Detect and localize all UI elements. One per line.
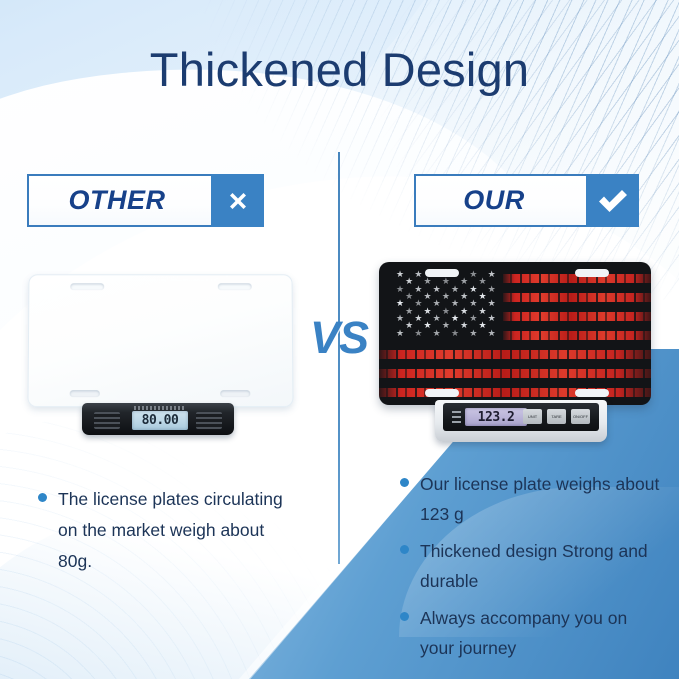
star-icon: ★ bbox=[396, 270, 404, 278]
plate-mounting-slot bbox=[425, 269, 459, 277]
bullet-dot-icon bbox=[38, 493, 47, 502]
star-icon: ★ bbox=[488, 329, 496, 337]
bullet-list-other: The license plates circulating on the ma… bbox=[38, 484, 293, 584]
flag-canton-stars: ★★★★★★★★★★★★★★★★★★★★★★★★★★★★★★★★★★★★★★★★… bbox=[395, 270, 505, 336]
bullet-list-our: Our license plate weighs about 123 g Thi… bbox=[400, 469, 662, 670]
star-icon: ★ bbox=[469, 314, 477, 322]
star-icon: ★ bbox=[460, 277, 468, 285]
star-icon: ★ bbox=[396, 314, 404, 322]
bullet-dot-icon bbox=[400, 478, 409, 487]
star-icon: ★ bbox=[469, 299, 477, 307]
infographic-canvas: Thickened Design OTHER OUR bbox=[0, 0, 679, 679]
star-icon: ★ bbox=[414, 299, 422, 307]
plate-mounting-slot bbox=[218, 283, 252, 290]
flag-stripe bbox=[503, 312, 651, 321]
star-icon: ★ bbox=[469, 270, 477, 278]
star-icon: ★ bbox=[424, 277, 432, 285]
star-icon: ★ bbox=[414, 329, 422, 337]
star-icon: ★ bbox=[488, 299, 496, 307]
bullet-text: Thickened design Strong and durable bbox=[420, 536, 662, 596]
scale-button-unit: UNIT bbox=[523, 409, 542, 424]
bullet-text: Always accompany you on your journey bbox=[420, 603, 662, 663]
check-icon bbox=[586, 174, 639, 227]
star-icon: ★ bbox=[405, 277, 413, 285]
license-plate-american-flag: ★★★★★★★★★★★★★★★★★★★★★★★★★★★★★★★★★★★★★★★★… bbox=[379, 262, 651, 405]
badge-other: OTHER bbox=[27, 174, 264, 227]
star-icon: ★ bbox=[433, 314, 441, 322]
star-icon: ★ bbox=[433, 329, 441, 337]
star-icon: ★ bbox=[451, 299, 459, 307]
scale-button-row: UNIT TARE ON/OFF bbox=[523, 409, 590, 424]
flag-stripe bbox=[379, 369, 651, 378]
star-icon: ★ bbox=[424, 321, 432, 329]
star-icon: ★ bbox=[460, 321, 468, 329]
product-other: 80.00 bbox=[20, 270, 305, 455]
list-item: Thickened design Strong and durable bbox=[400, 536, 662, 596]
star-icon: ★ bbox=[433, 285, 441, 293]
star-icon: ★ bbox=[442, 292, 450, 300]
scale-brand-text bbox=[134, 406, 186, 410]
star-icon: ★ bbox=[451, 314, 459, 322]
star-icon: ★ bbox=[479, 321, 487, 329]
star-icon: ★ bbox=[414, 285, 422, 293]
star-icon: ★ bbox=[442, 277, 450, 285]
cross-icon bbox=[211, 174, 264, 227]
scale-display-other: 80.00 bbox=[132, 411, 188, 430]
star-icon: ★ bbox=[460, 307, 468, 315]
flag-stripe bbox=[503, 293, 651, 302]
flag-stripe bbox=[379, 350, 651, 359]
page-title: Thickened Design bbox=[0, 46, 679, 93]
scale-vent-left bbox=[94, 412, 120, 429]
plate-mounting-slot bbox=[70, 283, 104, 290]
star-icon: ★ bbox=[396, 299, 404, 307]
digital-scale-our: 123.2 UNIT TARE ON/OFF bbox=[435, 400, 607, 442]
star-icon: ★ bbox=[469, 329, 477, 337]
scale-control-panel: 123.2 UNIT TARE ON/OFF bbox=[443, 403, 599, 431]
star-icon: ★ bbox=[405, 321, 413, 329]
star-icon: ★ bbox=[396, 329, 404, 337]
star-icon: ★ bbox=[488, 270, 496, 278]
star-icon: ★ bbox=[424, 292, 432, 300]
plate-mounting-slot bbox=[575, 269, 609, 277]
flag-stripe bbox=[503, 331, 651, 340]
scale-button-tare: TARE bbox=[547, 409, 566, 424]
product-our: ★★★★★★★★★★★★★★★★★★★★★★★★★★★★★★★★★★★★★★★★… bbox=[375, 258, 660, 458]
star-icon: ★ bbox=[442, 321, 450, 329]
plate-mounting-slot bbox=[425, 389, 459, 397]
plate-mounting-slot bbox=[575, 389, 609, 397]
versus-label: VS bbox=[303, 312, 375, 364]
scale-button-onoff: ON/OFF bbox=[571, 409, 590, 424]
badge-our: OUR bbox=[414, 174, 639, 227]
star-icon: ★ bbox=[442, 307, 450, 315]
star-icon: ★ bbox=[479, 277, 487, 285]
scale-indicator-ticks bbox=[452, 411, 461, 424]
star-icon: ★ bbox=[469, 285, 477, 293]
star-icon: ★ bbox=[479, 307, 487, 315]
license-plate-blank-white bbox=[27, 274, 293, 407]
star-icon: ★ bbox=[460, 292, 468, 300]
star-icon: ★ bbox=[479, 292, 487, 300]
list-item: The license plates circulating on the ma… bbox=[38, 484, 293, 577]
bullet-dot-icon bbox=[400, 612, 409, 621]
star-icon: ★ bbox=[396, 285, 404, 293]
bullet-text: Our license plate weighs about 123 g bbox=[420, 469, 662, 529]
list-item: Always accompany you on your journey bbox=[400, 603, 662, 663]
digital-scale-other: 80.00 bbox=[82, 403, 234, 435]
star-icon: ★ bbox=[414, 314, 422, 322]
star-icon: ★ bbox=[451, 329, 459, 337]
flag-stripe bbox=[379, 388, 651, 397]
star-icon: ★ bbox=[405, 292, 413, 300]
badge-other-label: OTHER bbox=[29, 176, 211, 225]
plate-mounting-slot bbox=[220, 390, 250, 397]
scale-vent-right bbox=[196, 412, 222, 429]
star-icon: ★ bbox=[488, 285, 496, 293]
plate-mounting-slot bbox=[70, 390, 100, 397]
list-item: Our license plate weighs about 123 g bbox=[400, 469, 662, 529]
bullet-text: The license plates circulating on the ma… bbox=[58, 484, 293, 577]
scale-display-our: 123.2 bbox=[465, 408, 527, 426]
star-icon: ★ bbox=[488, 314, 496, 322]
star-icon: ★ bbox=[414, 270, 422, 278]
star-icon: ★ bbox=[424, 307, 432, 315]
star-icon: ★ bbox=[433, 299, 441, 307]
star-icon: ★ bbox=[451, 285, 459, 293]
bullet-dot-icon bbox=[400, 545, 409, 554]
badge-our-label: OUR bbox=[416, 176, 586, 225]
star-icon: ★ bbox=[405, 307, 413, 315]
